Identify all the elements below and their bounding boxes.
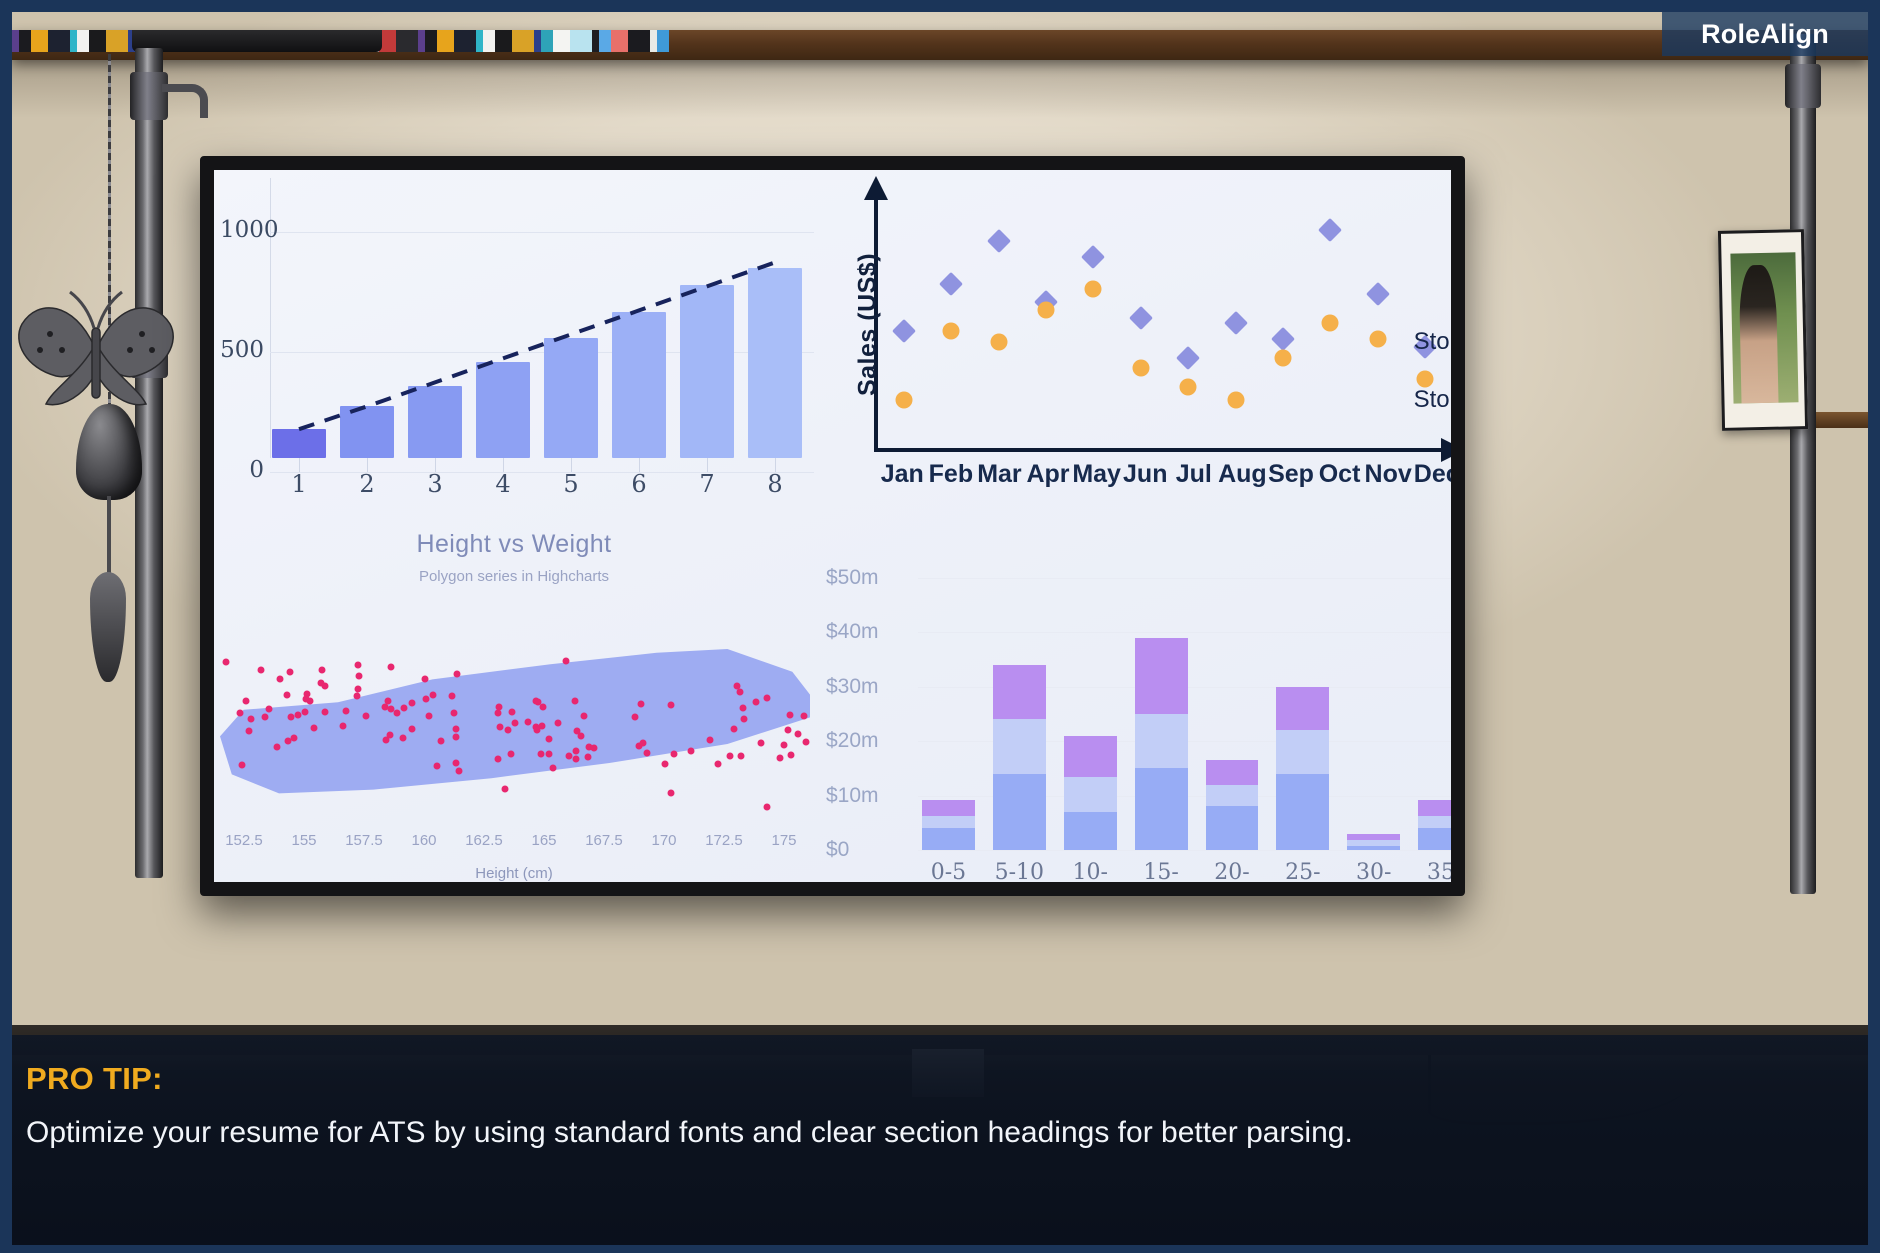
y-tick-label: $30m [826,675,879,699]
stack-segment [1418,816,1451,828]
book-spine [19,30,31,52]
stack-segment [1064,777,1117,812]
observation-point [387,663,394,670]
top-shelf-board [12,30,1868,60]
brand-badge: RoleAlign [1662,12,1868,56]
observation-point [243,697,250,704]
book-spine [534,30,541,52]
stacked-column [922,800,975,850]
observation-point [311,725,318,732]
scatter-legend-label-2: Store [1414,386,1451,414]
brand-name: RoleAlign [1701,19,1829,50]
observation-point [401,705,408,712]
y-tick-label: $0 [826,838,849,862]
gridline [918,850,1451,851]
data-point [1417,371,1434,388]
observation-point [572,697,579,704]
stacked-column [1276,687,1329,850]
observation-point [688,747,695,754]
stack-segment [1064,736,1117,777]
observation-point [291,735,298,742]
observation-point [394,709,401,716]
x-tick-label: 1 [272,470,326,504]
month-label: Dec [1412,460,1451,496]
data-point [1081,245,1105,269]
observation-point [302,696,309,703]
pipe-vertical-right [1790,34,1816,894]
stack-segment [1206,785,1259,807]
y-tick-label: $20m [826,729,879,753]
book-spine [476,30,483,52]
observation-point [409,699,416,706]
observation-point [545,750,552,757]
observation-point [284,738,291,745]
observation-point [423,696,430,703]
stacked-column [1135,638,1188,850]
scatter-plot-area [880,196,1449,448]
stack-segment [993,774,1046,850]
observation-point [740,704,747,711]
observation-point [497,724,504,731]
data-point [987,229,1011,253]
observation-point [455,768,462,775]
observation-point [301,709,308,716]
observation-point [535,698,542,705]
stack-segment [1135,714,1188,768]
book-spine [541,30,553,52]
observation-point [274,744,281,751]
observation-point [786,711,793,718]
bar-chart-x-tick-labels: 12345678 [272,470,802,504]
observation-point [545,735,552,742]
y-tick-label: $40m [826,620,879,644]
observation-point [237,710,244,717]
month-label: Aug [1218,460,1267,496]
observation-point [286,668,293,675]
x-tick-label: 172.5 [694,832,754,858]
book-spine [418,30,425,52]
x-tick-label: 3 [408,470,462,504]
book-spine [70,30,77,52]
observation-point [707,737,714,744]
x-tick-label: 7 [680,470,734,504]
stack-segment [1135,638,1188,714]
pipe-elbow [162,84,208,118]
polygon-chart-subtitle: Polygon series in Highcharts [214,568,814,585]
x-tick-label: 8 [748,470,802,504]
observation-point [534,726,541,733]
stack-segment [1418,828,1451,850]
book-spine [495,30,512,52]
observation-point [777,755,784,762]
stack-segment [1135,768,1188,850]
month-label: May [1072,460,1121,496]
observation-point [355,672,362,679]
observation-point [590,744,597,751]
observation-point [803,738,810,745]
observation-point [563,658,570,665]
observation-point [494,710,501,717]
bell-rod [107,496,111,576]
observation-point [494,755,501,762]
month-label: Jul [1170,460,1219,496]
observation-point [727,752,734,759]
month-label: Mar [975,460,1024,496]
polygon-plot-area [220,630,810,820]
stack-segment [1206,760,1259,784]
stack-segment [922,816,975,828]
book-spine [650,30,657,52]
observation-point [386,731,393,738]
x-tick-label: 10-15 [1064,860,1117,882]
observation-point [525,718,532,725]
stack-segment [1418,800,1451,816]
observation-point [287,713,294,720]
data-point [1369,331,1386,348]
data-point [1180,378,1197,395]
observation-point [758,740,765,747]
data-point [892,319,916,343]
observation-point [584,753,591,760]
observation-point [764,804,771,811]
x-tick-label: 155 [274,832,334,858]
observation-point [502,786,509,793]
polygon-x-tick-labels: 152.5155157.5160162.5165167.5170172.5175 [214,832,814,858]
observation-point [580,712,587,719]
x-tick-label: 6 [612,470,666,504]
stacked-chart-columns [922,578,1451,850]
observation-point [451,710,458,717]
x-tick-label: 152.5 [214,832,274,858]
stack-segment [1276,730,1329,774]
observation-point [496,704,503,711]
data-point [1227,392,1244,409]
observation-point [785,727,792,734]
scatter-month-labels: JanFebMarAprMayJunJulAugSepOctNovDec [878,460,1451,496]
y-tick-label: 0 [220,457,264,483]
chart-stacked-revenue: $0$10m$20m$30m$40m$50m 0-55-1010-1515-20… [814,520,1451,882]
book-spine [483,30,495,52]
stack-segment [1347,846,1400,850]
y-tick-label: $10m [826,784,879,808]
data-point [1037,302,1054,319]
polygon-x-axis-title: Height (cm) [214,865,814,882]
month-label: Apr [1024,460,1073,496]
chart-height-vs-weight: Height vs Weight Polygon series in Highc… [214,520,814,882]
observation-point [800,713,807,720]
x-tick-label: 20-25 [1206,860,1259,882]
book-spine [553,30,570,52]
chart-monthly-sales-scatter: Sales (US$) JanFebMarAprMayJunJulAugSepO… [814,170,1451,520]
observation-point [382,703,389,710]
book-spine [592,30,599,52]
month-label: Jun [1121,460,1170,496]
x-tick-label: 35-40 [1418,860,1451,882]
observation-point [788,751,795,758]
data-point [1322,315,1339,332]
x-tick-label: 30-35 [1347,860,1400,882]
book-spine [454,30,476,52]
data-point [939,272,963,296]
book-spine [425,30,437,52]
data-point [1224,311,1248,335]
observation-point [662,760,669,767]
stack-segment [993,665,1046,719]
pipe-joint-upper-right [1785,64,1821,108]
x-tick-label: 160 [394,832,454,858]
observation-point [573,727,580,734]
observation-point [740,715,747,722]
data-point [1366,282,1390,306]
observation-point [319,667,326,674]
observation-point [730,725,737,732]
observation-point [321,709,328,716]
observation-point [737,753,744,760]
x-tick-label: 0-5 [922,860,975,882]
photo-subject [1738,265,1779,404]
observation-point [637,700,644,707]
book-spine [512,30,534,52]
observation-point [554,720,561,727]
observation-point [238,761,245,768]
stack-segment [1206,806,1259,850]
observation-point [245,728,252,735]
stacked-column [1418,800,1451,850]
book-spine [48,30,70,52]
observation-point [430,692,437,699]
data-point [895,392,912,409]
observation-point [408,726,415,733]
x-tick-label: 5 [544,470,598,504]
television: 05001000 12345678 Sales (US$) JanFebMarA… [200,156,1465,896]
book-spine [657,30,669,52]
x-tick-label: 170 [634,832,694,858]
observation-point [795,730,802,737]
data-point [1271,327,1295,351]
book-spine [628,30,650,52]
x-tick-label: 4 [476,470,530,504]
observation-point [248,716,255,723]
observation-point [538,750,545,757]
observation-point [573,756,580,763]
scatter-x-axis [874,448,1443,452]
book-spine [77,30,89,52]
stack-segment [993,719,1046,773]
observation-point [505,726,512,733]
observation-point [354,661,361,668]
observation-point [342,707,349,714]
month-label: Feb [927,460,976,496]
x-tick-label: 162.5 [454,832,514,858]
y-tick-label: 500 [220,337,264,363]
book-spine [106,30,128,52]
observation-point [262,713,269,720]
observation-point [438,737,445,744]
book-spine [570,30,592,52]
observation-point [550,764,557,771]
data-point [943,323,960,340]
observation-point [643,750,650,757]
stacked-column [1206,760,1259,850]
screenshot-root: 05001000 12345678 Sales (US$) JanFebMarA… [0,0,1880,1253]
scatter-y-axis-title: Sales (US$) [854,225,883,425]
data-point [1132,360,1149,377]
month-label: Oct [1315,460,1364,496]
stack-segment [1064,812,1117,850]
observation-point [317,680,324,687]
book-spine [599,30,611,52]
book-spine [437,30,454,52]
month-label: Jan [878,460,927,496]
stacked-column [993,665,1046,850]
data-point [1176,346,1200,370]
scatter-legend-label-1: Store [1414,328,1451,356]
observation-point [362,712,369,719]
observation-point [283,691,290,698]
x-tick-label: 5-10 [993,860,1046,882]
book-spine [611,30,628,52]
pro-tip-text: Optimize your resume for ATS by using st… [26,1113,1426,1152]
photo-image [1730,252,1798,403]
stack-segment [922,800,975,816]
polygon-chart-title: Height vs Weight [214,530,814,559]
observation-point [353,692,360,699]
observation-point [668,702,675,709]
data-point [1318,218,1342,242]
observation-point [452,725,459,732]
observation-point [399,734,406,741]
observation-point [223,659,230,666]
observation-point [453,733,460,740]
observation-point [780,741,787,748]
x-tick-label: 15-20 [1135,860,1188,882]
x-tick-label: 2 [340,470,394,504]
data-point [1085,280,1102,297]
observation-point [258,666,265,673]
book-spine [12,30,19,52]
observation-point [640,740,647,747]
dark-bag-on-shelf [132,30,382,52]
x-tick-label: 175 [754,832,814,858]
observation-point [752,699,759,706]
observation-point [277,675,284,682]
observation-point [355,685,362,692]
x-tick-label: 167.5 [574,832,634,858]
observation-point [667,790,674,797]
observation-point [266,706,273,713]
data-point [1275,349,1292,366]
observation-point [508,708,515,715]
y-tick-label: 1000 [220,217,264,243]
x-tick-label: 157.5 [334,832,394,858]
observation-point [763,695,770,702]
stacked-column [1347,834,1400,850]
pro-tip-caption-overlay: PRO TIP: Optimize your resume for ATS by… [0,1035,1880,1253]
book-spine [396,30,418,52]
chart-bar-trend: 05001000 12345678 [214,170,814,520]
bar-chart-trend-line [272,218,802,458]
observation-point [426,712,433,719]
stacked-column [1064,736,1117,850]
x-tick-label: 25-30 [1276,860,1329,882]
observation-point [512,720,519,727]
observation-point [631,714,638,721]
y-tick-label: $50m [826,566,879,590]
data-point [1129,306,1153,330]
observation-point [714,761,721,768]
data-point [990,333,1007,350]
observation-point [340,722,347,729]
stack-segment [1276,774,1329,850]
stack-segment [922,828,975,850]
stack-segment [1276,687,1329,731]
observation-point [736,688,743,695]
x-tick-label: 165 [514,832,574,858]
tv-screen-dashboard: 05001000 12345678 Sales (US$) JanFebMarA… [214,170,1451,882]
observation-point [671,750,678,757]
observation-point [421,675,428,682]
pro-tip-label: PRO TIP: [26,1061,1854,1097]
framed-photo [1718,229,1808,431]
month-label: Sep [1267,460,1316,496]
butterfly-wind-chime-icon [16,284,176,409]
observation-point [433,762,440,769]
month-label: Nov [1364,460,1413,496]
book-spine [89,30,106,52]
observation-point [453,671,460,678]
observation-point [448,692,455,699]
observation-point [452,759,459,766]
observation-point [507,750,514,757]
observation-point [572,747,579,754]
stacked-chart-x-tick-labels: 0-55-1010-1515-2020-2525-3030-3535-40 [922,860,1451,882]
book-spine [31,30,48,52]
